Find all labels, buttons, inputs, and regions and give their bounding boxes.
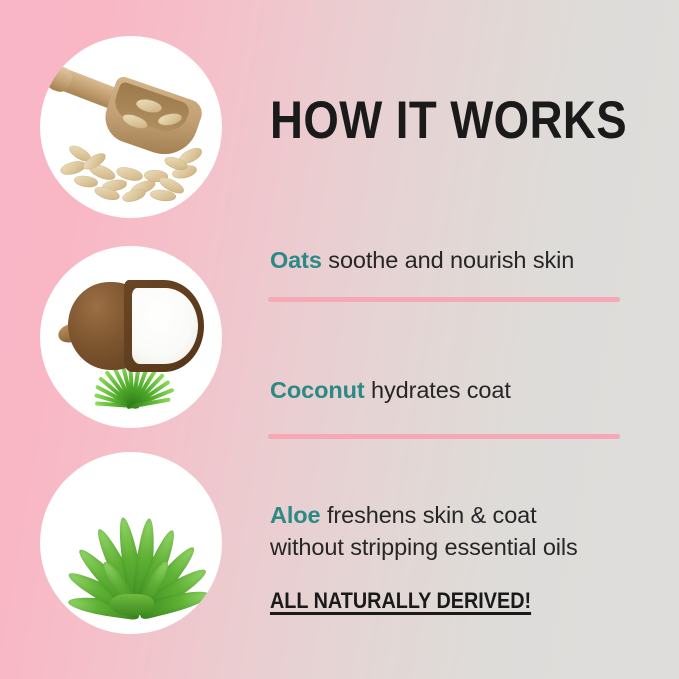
aloe-illustration (40, 452, 222, 634)
footnote-naturally-derived: ALL NATURALLY DERIVED! (270, 588, 531, 614)
benefit-keyword-coconut: Coconut (270, 377, 365, 403)
benefit-coconut: Coconut hydrates coat (270, 374, 511, 406)
coconut-flesh (132, 288, 198, 364)
oats-illustration (40, 36, 222, 218)
benefit-keyword-oats: Oats (270, 247, 322, 273)
how-it-works-infographic: HOW IT WORKS Oats soothe and nourish ski… (0, 0, 679, 679)
content-column: HOW IT WORKS Oats soothe and nourish ski… (268, 0, 660, 679)
benefit-text-aloe-line1: freshens skin & coat (321, 502, 537, 528)
aloe-plant (52, 492, 210, 616)
divider-1 (268, 297, 620, 302)
benefit-oats: Oats soothe and nourish skin (270, 244, 574, 276)
ingredient-image-column (40, 0, 222, 679)
benefit-keyword-aloe: Aloe (270, 502, 321, 528)
ingredient-image-coconut (40, 246, 222, 428)
ingredient-image-aloe (40, 452, 222, 634)
benefit-text-oats: soothe and nourish skin (322, 247, 574, 273)
benefit-text-aloe-line2: without stripping essential oils (270, 534, 578, 560)
benefit-aloe: Aloe freshens skin & coat without stripp… (270, 499, 578, 563)
aloe-base (110, 594, 154, 616)
benefit-text-coconut: hydrates coat (365, 377, 511, 403)
page-title: HOW IT WORKS (270, 94, 627, 148)
ingredient-image-oats (40, 36, 222, 218)
divider-2 (268, 434, 620, 439)
coconut-illustration (40, 246, 222, 428)
